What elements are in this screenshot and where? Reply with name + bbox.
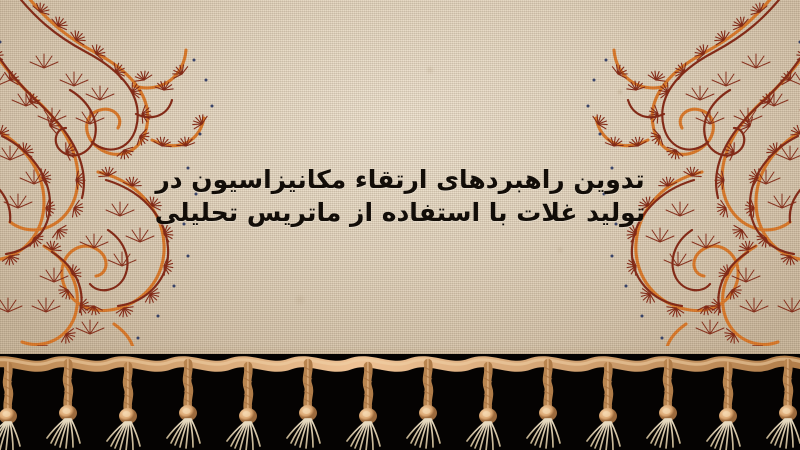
title-line-1: تدوین راهبردهای ارتقاء مکانیزاسیون در	[0, 163, 800, 196]
slide-title: تدوین راهبردهای ارتقاء مکانیزاسیون در تو…	[0, 163, 800, 230]
slide-canvas: تدوین راهبردهای ارتقاء مکانیزاسیون در تو…	[0, 0, 800, 450]
title-line-2: تولید غلات با استفاده از ماتریس تحلیلی	[0, 196, 800, 229]
knotted-tassel-fringe	[0, 354, 800, 450]
